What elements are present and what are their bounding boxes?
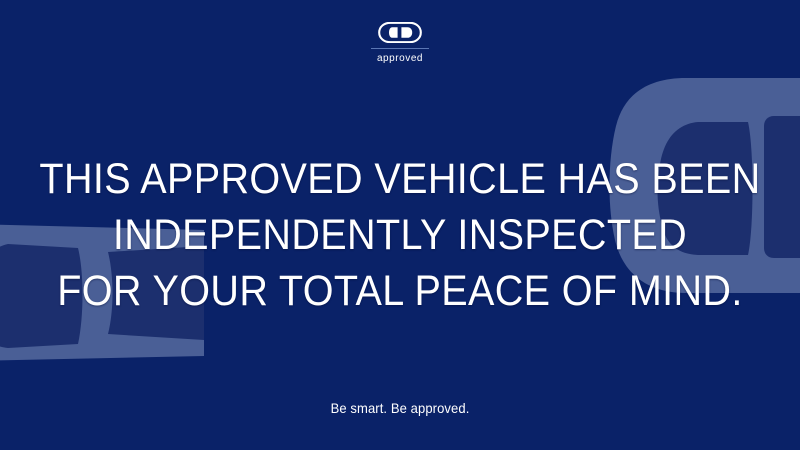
page-title: THIS APPROVED VEHICLE HAS BEEN INDEPENDE… bbox=[32, 152, 768, 320]
brand-tagline: Be smart. Be approved. bbox=[28, 400, 772, 416]
logo-wordmark: approved bbox=[377, 54, 423, 64]
logo-divider bbox=[371, 48, 429, 49]
car-top-view-icon bbox=[378, 22, 422, 43]
brand-logo: approved bbox=[0, 22, 800, 64]
headline-line-1: THIS APPROVED VEHICLE HAS BEEN bbox=[32, 152, 768, 208]
approved-vehicle-banner: approved THIS APPROVED VEHICLE HAS BEEN … bbox=[0, 0, 800, 450]
headline-line-3: FOR YOUR TOTAL PEACE OF MIND. bbox=[32, 264, 768, 320]
headline-line-2: INDEPENDENTLY INSPECTED bbox=[32, 208, 768, 264]
